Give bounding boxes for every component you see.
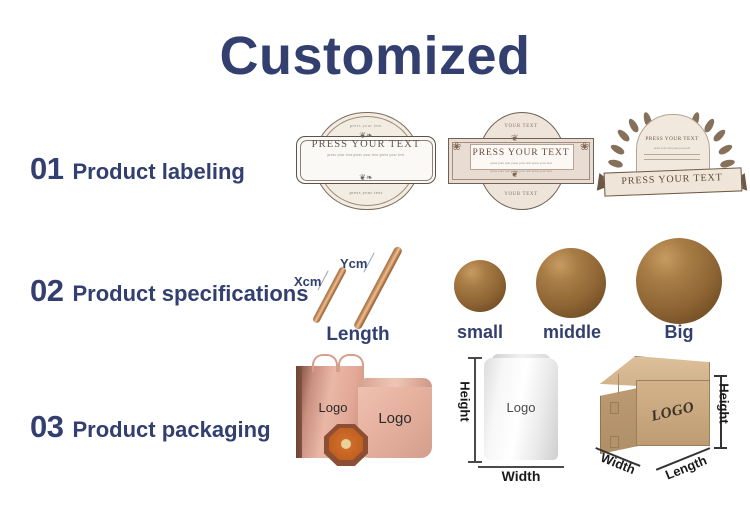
row-1-number: 01 (30, 151, 63, 187)
length-illustration: Xcm Ycm Length (288, 234, 428, 350)
label-a-bottom-text: press your text (296, 190, 436, 195)
sack-logo-text: Logo (484, 400, 558, 415)
sphere-small-caption: small (440, 322, 520, 343)
label-a-sub-text: press your text press your text press yo… (296, 153, 436, 157)
sphere-small (454, 260, 506, 312)
row-2-label: 02 Product specifications (30, 273, 308, 309)
row-product-labeling: 01 Product labeling ❦❧ press your text P… (0, 108, 750, 230)
row-3-number: 03 (30, 409, 63, 445)
gift-bag-handle (338, 354, 364, 372)
carton-length-label: Length (657, 450, 715, 485)
carton-side-face (600, 388, 638, 454)
row-3-text: Product packaging (72, 417, 270, 443)
row-3-label: 03 Product packaging (30, 409, 271, 445)
gift-bag-handle (312, 354, 338, 372)
carton-height-cap-bottom (714, 447, 727, 449)
row-2-text: Product specifications (72, 281, 308, 307)
row-1-text: Product labeling (72, 159, 244, 185)
carton-flap-tab (610, 402, 619, 414)
label-b-main-text: PRESS YOUR TEXT (448, 148, 594, 158)
carton-width-label: Width (593, 448, 643, 480)
sphere-middle-caption: middle (526, 322, 618, 343)
label-b-bottom-text: YOUR TEXT (448, 192, 594, 197)
label-c-crest-text: PRESS YOUR TEXT (636, 136, 708, 142)
label-b-top-text: YOUR TEXT (448, 124, 594, 129)
label-a-top-text: press your text (296, 123, 436, 128)
sack-illustration: Logo Height Width (456, 352, 586, 484)
laurel-leaf-icon (609, 143, 625, 157)
gift-set-illustration: Logo Logo (296, 352, 436, 482)
vintage-label-a: ❦❧ press your text PRESS YOUR TEXT press… (296, 112, 436, 208)
sphere-big-caption: Big (630, 322, 728, 343)
customized-infographic: Customized 01 Product labeling ❦❧ press … (0, 0, 750, 512)
row-2-number: 02 (30, 273, 63, 309)
carton-flap-tab (610, 436, 619, 448)
label-a-flourish-bottom: ❦❧ (359, 174, 372, 182)
gift-box-logo-text: Logo (358, 410, 432, 427)
label-b-sub-text-2: press your text press your text press yo… (448, 169, 594, 173)
laurel-leaf-icon (717, 143, 733, 157)
sack-height-dimension-line (474, 358, 476, 462)
label-c-crest-sub: press your text press your text (642, 146, 702, 150)
sack-width-label: Width (478, 468, 564, 484)
label-b-swirl-top: ❦ (511, 134, 519, 143)
carton-top-seam (618, 374, 619, 394)
label-b-sub-text: press your text press your text press yo… (448, 161, 594, 165)
vintage-label-c: PRESS YOUR TEXT press your text press yo… (598, 112, 746, 212)
sack-height-label: Height (458, 380, 473, 424)
gift-box-lid (358, 378, 432, 387)
page-title: Customized (0, 28, 750, 85)
sphere-middle (536, 248, 606, 318)
length-caption: Length (288, 324, 428, 346)
carton-height-cap-top (714, 375, 727, 377)
carton-illustration: LOGO Height Width Length (592, 352, 742, 488)
gift-bag-logo-text: Logo (302, 400, 364, 415)
sack-height-cap-top (468, 357, 482, 359)
sack-height-cap-bottom (468, 461, 482, 463)
label-a-main-text: PRESS YOUR TEXT (296, 139, 436, 150)
label-c-rule (644, 159, 700, 160)
laurel-leaf-icon (616, 128, 632, 144)
sphere-big (636, 238, 722, 324)
carton-height-label: Height (717, 380, 732, 428)
size-illustration: small middle Big (440, 232, 740, 350)
row-product-specifications: 02 Product specifications Xcm Ycm Length… (0, 232, 750, 350)
laurel-leaf-icon (607, 158, 623, 169)
laurel-leaf-icon (712, 128, 728, 144)
row-1-label: 01 Product labeling (30, 151, 245, 187)
row-product-packaging: 03 Product packaging Logo Logo Logo (0, 352, 750, 502)
octagon-tin-emblem (341, 439, 351, 449)
stick-x-label: Xcm (294, 274, 321, 289)
laurel-leaf-icon (627, 117, 641, 133)
label-c-rule (644, 154, 700, 155)
label-samples: ❦❧ press your text PRESS YOUR TEXT press… (296, 108, 746, 230)
stick-y-label: Ycm (340, 256, 367, 271)
vintage-label-b: ❀ ❀ ❦ ❦ YOUR TEXT PRESS YOUR TEXT press … (448, 112, 594, 208)
